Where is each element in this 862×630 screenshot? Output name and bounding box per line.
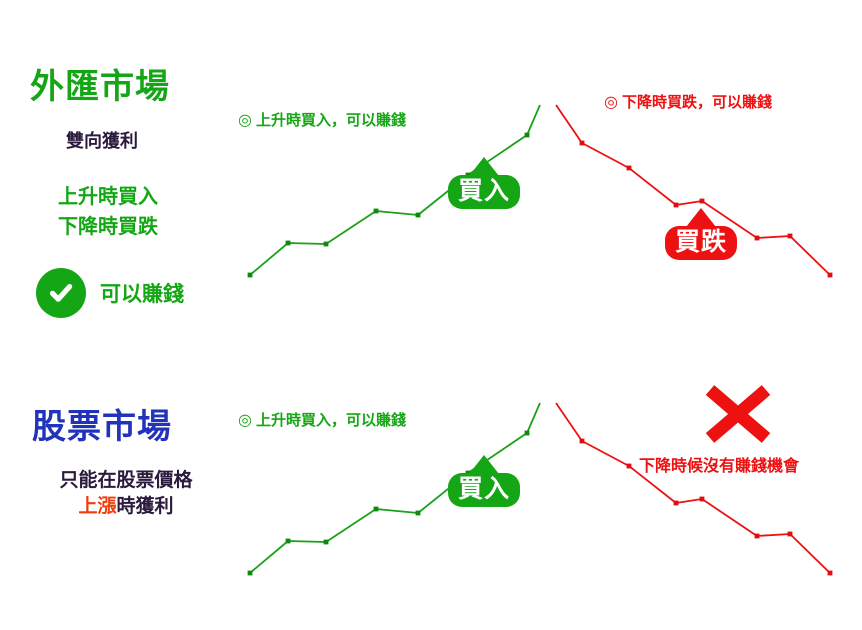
chart-stock-falling	[552, 393, 842, 583]
up-triangle-icon	[469, 157, 499, 176]
stock-buy-marker[interactable]: 買入	[448, 455, 520, 507]
stock-subtitle-line-2: 上漲時獲利	[36, 494, 216, 520]
forex-sell-marker[interactable]: 買跌	[665, 208, 737, 260]
stock-title-text: 股票市場	[32, 410, 172, 444]
stock-title: 股票市場	[32, 410, 172, 444]
forex-buy-marker[interactable]: 買入	[448, 157, 520, 209]
stock-subtitle-highlight: 上漲	[78, 496, 116, 517]
forex-sell-badge[interactable]: 買跌	[665, 226, 737, 260]
forex-subtitle-text: 雙向獲利	[66, 130, 138, 153]
forex-result-text: 可以賺錢	[100, 278, 184, 308]
forex-buy-badge[interactable]: 買入	[448, 175, 520, 209]
infographic-root: 外匯市場 雙向獲利 上升時買入 下降時買跌 可以賺錢 ◎上升時買入，可以賺錢	[0, 0, 862, 630]
forex-subtitle: 雙向獲利	[66, 130, 138, 153]
forex-result: 可以賺錢	[36, 268, 184, 318]
stock-subtitle-rest: 時獲利	[117, 496, 174, 517]
forex-slogan-line-2: 下降時買跌	[58, 212, 158, 242]
forex-slogan: 上升時買入 下降時買跌	[58, 182, 158, 242]
forex-title-text: 外匯市場	[30, 70, 170, 104]
up-triangle-icon	[469, 455, 499, 474]
stock-falling-caption: 下降時候沒有賺錢機會	[639, 452, 799, 476]
check-circle-icon	[36, 268, 86, 318]
red-x-icon	[702, 386, 774, 444]
forex-title: 外匯市場	[30, 70, 170, 104]
stock-buy-badge[interactable]: 買入	[448, 473, 520, 507]
stock-subtitle-line-1: 只能在股票價格	[36, 468, 216, 494]
chart-stock-falling-svg	[552, 393, 842, 583]
up-triangle-icon	[686, 208, 716, 227]
forex-slogan-line-1: 上升時買入	[58, 182, 158, 212]
stock-subtitle: 只能在股票價格 上漲時獲利	[36, 468, 216, 519]
